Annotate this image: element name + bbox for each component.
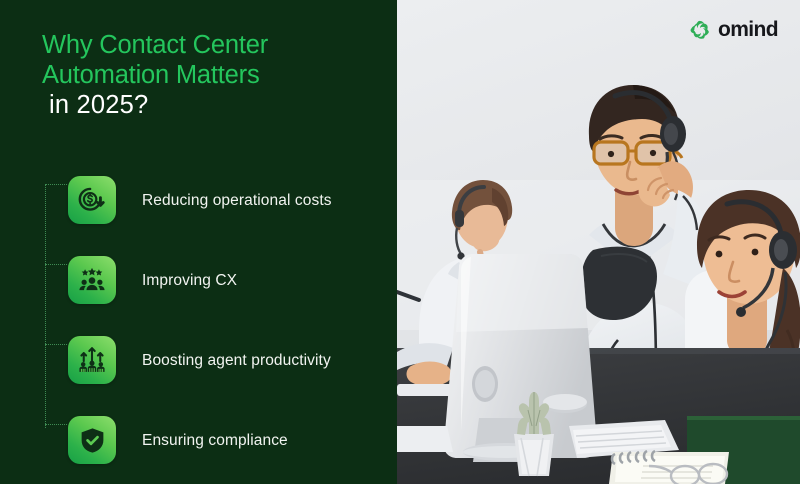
shield-check-icon bbox=[68, 416, 116, 464]
connector-vertical-line bbox=[45, 184, 46, 428]
list-item: Ensuring compliance bbox=[68, 400, 397, 480]
logo-wordmark: omind bbox=[718, 19, 778, 40]
left-content-panel: Why Contact Center Automation Matters in… bbox=[0, 0, 397, 484]
list-item-label: Boosting agent productivity bbox=[142, 351, 331, 370]
call-center-team-photo bbox=[397, 0, 800, 484]
connector-branch-3 bbox=[45, 344, 67, 345]
cost-reduction-icon bbox=[68, 176, 116, 224]
headline-line-3: in 2025? bbox=[42, 90, 372, 120]
omind-logo[interactable]: omind bbox=[688, 18, 778, 41]
agent-productivity-icon bbox=[68, 336, 116, 384]
omind-swirl-icon bbox=[688, 18, 711, 41]
page-title: Why Contact Center Automation Matters in… bbox=[42, 30, 372, 120]
list-item-label: Ensuring compliance bbox=[142, 431, 288, 450]
marketing-banner: Why Contact Center Automation Matters in… bbox=[0, 0, 800, 484]
list-item-label: Improving CX bbox=[142, 271, 237, 290]
list-item: Improving CX bbox=[68, 240, 397, 320]
customer-experience-icon bbox=[68, 256, 116, 304]
list-item-label: Reducing operational costs bbox=[142, 191, 332, 210]
connector-branch-1 bbox=[45, 184, 67, 185]
connector-branch-4 bbox=[45, 424, 67, 425]
benefits-list: Reducing operational costs bbox=[68, 160, 397, 480]
list-item: Boosting agent productivity bbox=[68, 320, 397, 400]
list-item: Reducing operational costs bbox=[68, 160, 397, 240]
headline-line-2: Automation Matters bbox=[42, 60, 372, 90]
headline-line-1: Why Contact Center bbox=[42, 30, 372, 60]
hero-photo: omind bbox=[397, 0, 800, 484]
connector-branch-2 bbox=[45, 264, 67, 265]
